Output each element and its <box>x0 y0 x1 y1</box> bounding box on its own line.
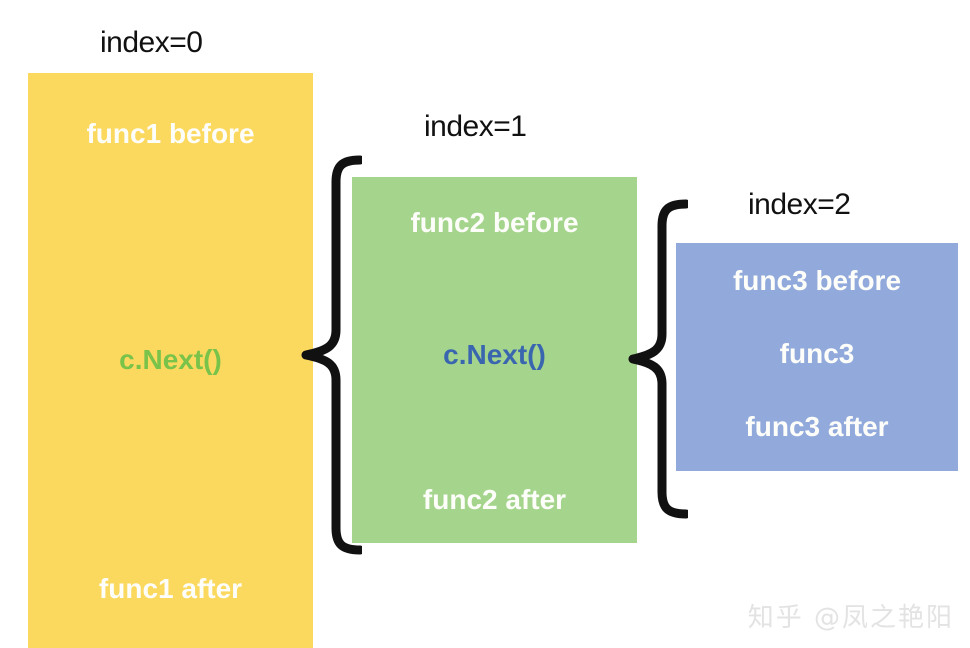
frame-2-line-before: func2 before <box>352 207 637 239</box>
index-label-0: index=0 <box>100 26 202 60</box>
frame-2-line-next-call: c.Next() <box>352 339 637 371</box>
handler-frame-box-2: func2 before c.Next() func2 after <box>352 177 637 543</box>
handler-frame-box-1: func1 before c.Next() func1 after <box>28 73 313 648</box>
frame-1-line-after: func1 after <box>28 573 313 605</box>
frame-1-line-before: func1 before <box>28 118 313 150</box>
frame-2-line-after: func2 after <box>352 484 637 516</box>
frame-3-line-after: func3 after <box>676 411 958 443</box>
frame-3-line-body: func3 <box>676 338 958 370</box>
frame-3-line-before: func3 before <box>676 265 958 297</box>
handler-frame-box-3: func3 before func3 func3 after <box>676 243 958 471</box>
watermark: 知乎 @凤之艳阳 <box>748 597 954 634</box>
index-label-1: index=1 <box>424 110 526 144</box>
index-label-2: index=2 <box>748 188 850 222</box>
diagram-canvas: index=0 index=1 index=2 func1 before c.N… <box>0 0 970 648</box>
frame-1-line-next-call: c.Next() <box>28 344 313 376</box>
